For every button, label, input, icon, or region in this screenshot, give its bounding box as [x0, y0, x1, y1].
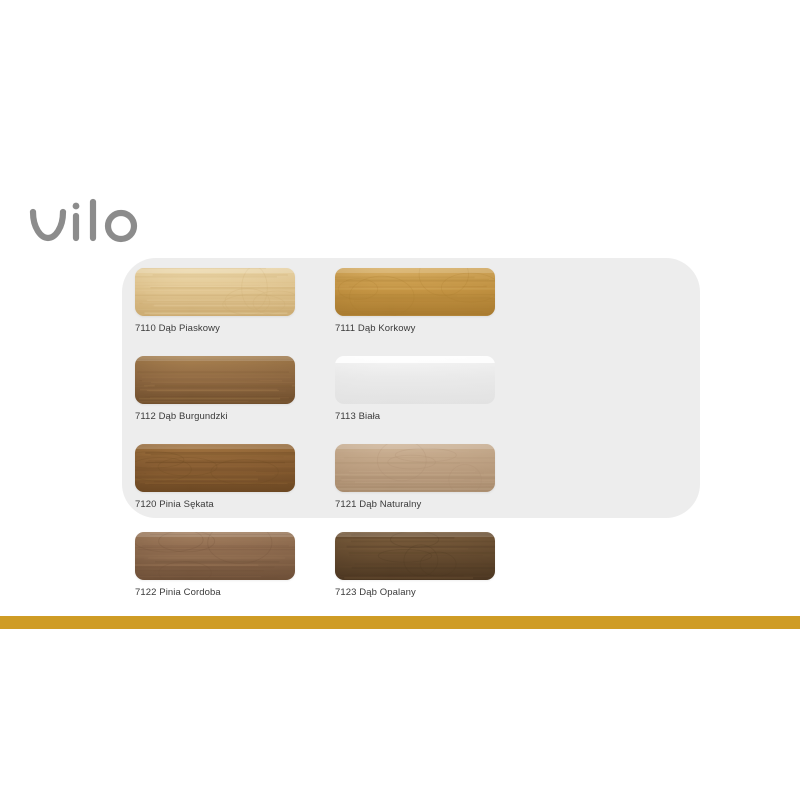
- swatch-cell-7112[interactable]: 7112 Dąb Burgundzki: [135, 356, 335, 444]
- swatch-label-7110: 7110 Dąb Piaskowy: [135, 323, 335, 335]
- swatch-label-7120: 7120 Pinia Sękata: [135, 499, 335, 511]
- swatch-7121[interactable]: [335, 444, 495, 492]
- decor-sample-panel: 7110 Dąb Piaskowy 7111 Dąb Korkowy: [122, 258, 700, 518]
- wood-grain-texture: [335, 356, 495, 404]
- swatch-cell-7110[interactable]: 7110 Dąb Piaskowy: [135, 268, 335, 356]
- wood-grain-texture: [335, 532, 495, 580]
- swatch-7123[interactable]: [335, 532, 495, 580]
- swatch-label-7121: 7121 Dąb Naturalny: [335, 499, 535, 511]
- wood-grain-texture: [135, 532, 295, 580]
- swatch-cell-7111[interactable]: 7111 Dąb Korkowy: [335, 268, 535, 356]
- logo-dot-icon: [73, 203, 80, 210]
- swatch-cell-7122[interactable]: 7122 Pinia Cordoba: [135, 532, 335, 620]
- wood-grain-texture: [135, 356, 295, 404]
- swatch-label-7122: 7122 Pinia Cordoba: [135, 587, 335, 599]
- swatch-7110[interactable]: [135, 268, 295, 316]
- swatch-label-7112: 7112 Dąb Burgundzki: [135, 411, 335, 423]
- logo-o-icon: [108, 213, 134, 239]
- wood-grain-texture: [135, 444, 295, 492]
- vilo-logo: [28, 198, 148, 250]
- wood-grain-texture: [335, 444, 495, 492]
- swatch-7113[interactable]: [335, 356, 495, 404]
- vilo-wordmark-icon: [28, 198, 148, 250]
- swatch-cell-7121[interactable]: 7121 Dąb Naturalny: [335, 444, 535, 532]
- swatch-label-7123: 7123 Dąb Opalany: [335, 587, 535, 599]
- wood-grain-texture: [335, 268, 495, 316]
- swatch-7112[interactable]: [135, 356, 295, 404]
- swatch-cell-7120[interactable]: 7120 Pinia Sękata: [135, 444, 335, 532]
- wood-grain-texture: [135, 268, 295, 316]
- swatch-grid: 7110 Dąb Piaskowy 7111 Dąb Korkowy: [135, 268, 695, 620]
- swatch-7120[interactable]: [135, 444, 295, 492]
- swatch-label-7111: 7111 Dąb Korkowy: [335, 323, 535, 335]
- swatch-7111[interactable]: [335, 268, 495, 316]
- swatch-cell-7113[interactable]: 7113 Biała: [335, 356, 535, 444]
- swatch-7122[interactable]: [135, 532, 295, 580]
- swatch-cell-7123[interactable]: 7123 Dąb Opalany: [335, 532, 535, 620]
- swatch-label-7113: 7113 Biała: [335, 411, 535, 423]
- gold-accent-bar: [0, 616, 800, 629]
